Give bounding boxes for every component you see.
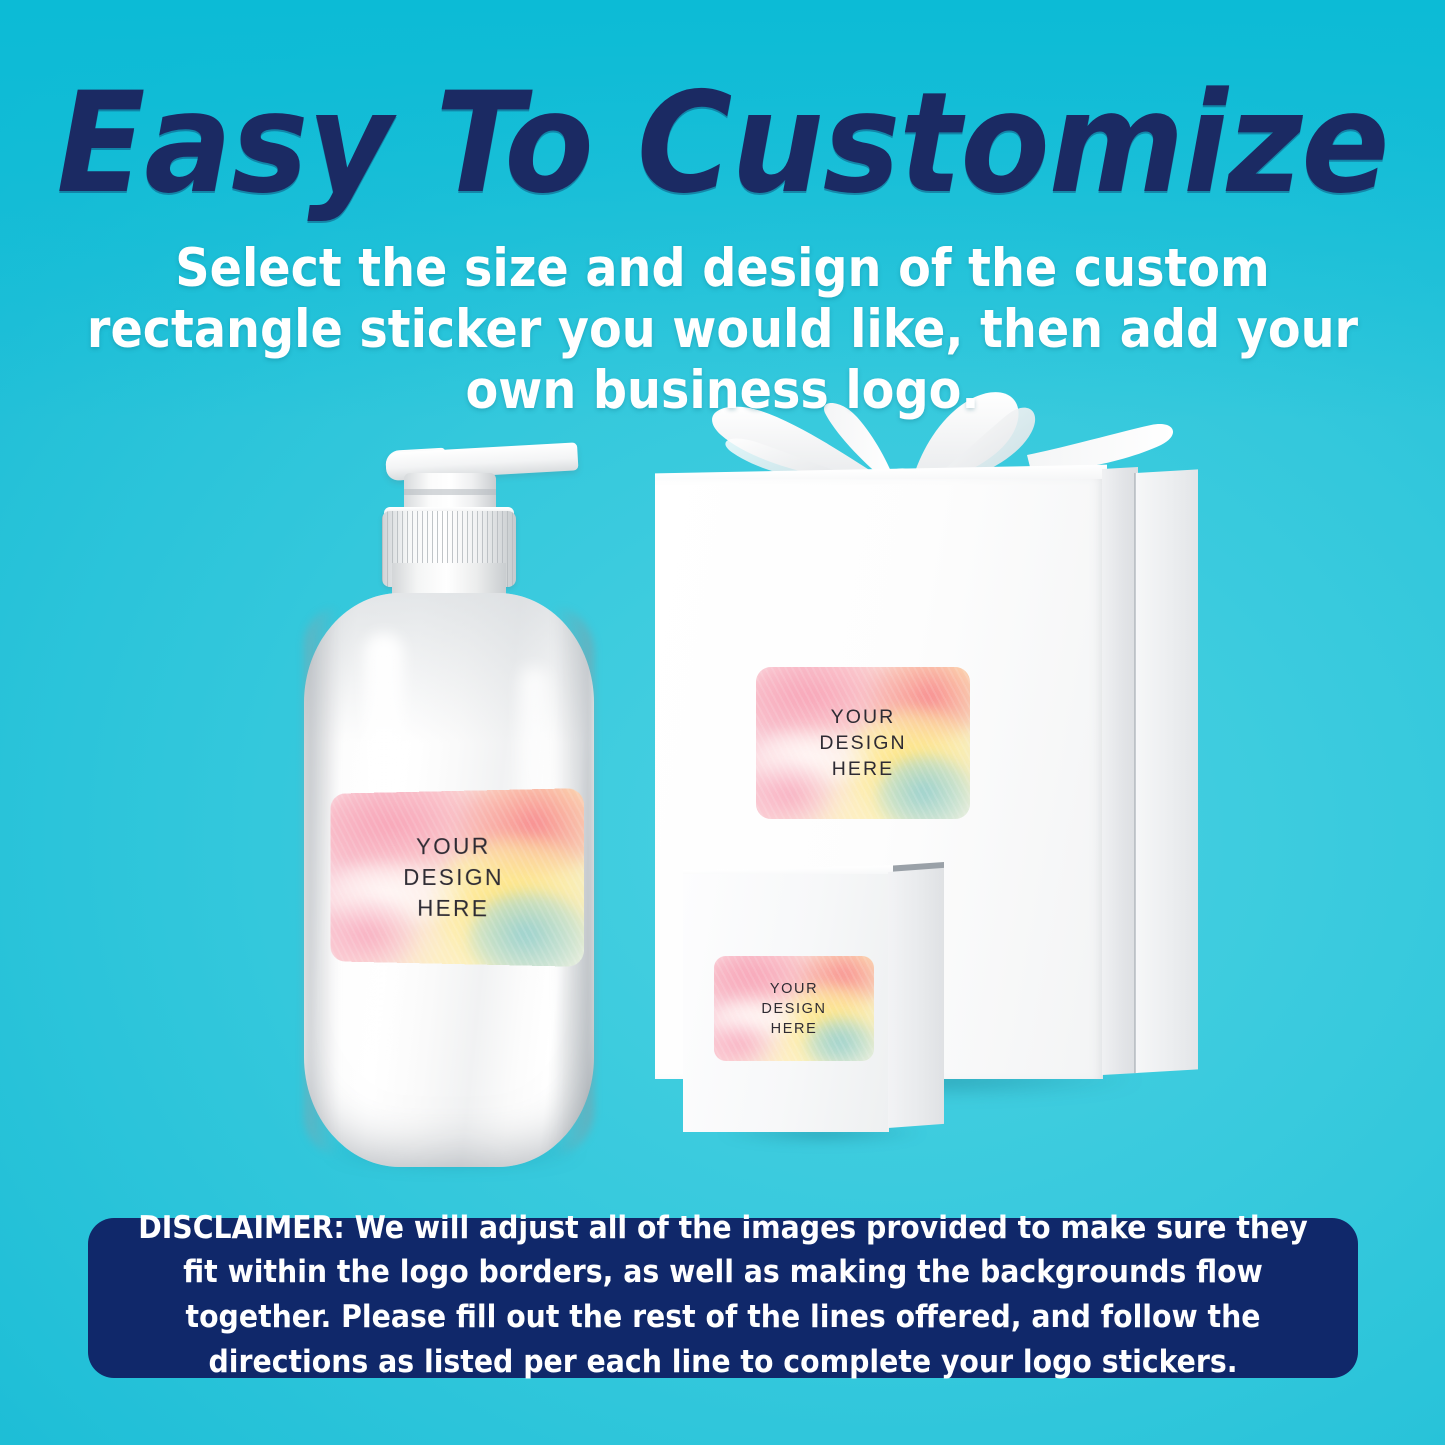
sticker-preview-small-box[interactable]: YOUR DESIGN HERE <box>714 956 874 1061</box>
pump-stem-band <box>404 489 496 495</box>
sticker-line-1: YOUR <box>770 979 818 999</box>
page-subtitle: Select the size and design of the custom… <box>0 239 1445 422</box>
disclaimer-text: DISCLAIMER: We will adjust all of the im… <box>134 1206 1312 1385</box>
sticker-placeholder-text: YOUR DESIGN HERE <box>756 667 970 819</box>
sticker-line-3: HERE <box>832 756 895 782</box>
sticker-line-2: DESIGN <box>819 730 906 756</box>
sticker-placeholder-text: YOUR DESIGN HERE <box>714 956 874 1061</box>
disclaimer-label: DISCLAIMER: <box>138 1210 345 1246</box>
disclaimer-body: We will adjust all of the images provide… <box>183 1210 1308 1380</box>
sticker-preview-gift-box[interactable]: YOUR DESIGN HERE <box>756 667 970 819</box>
sticker-line-2: DESIGN <box>403 862 504 893</box>
small-box-side-face <box>888 868 944 1128</box>
gift-box-side-face <box>1136 469 1198 1073</box>
sticker-line-3: HERE <box>771 1019 818 1039</box>
disclaimer-banner: DISCLAIMER: We will adjust all of the im… <box>88 1218 1358 1378</box>
page-title: Easy To Customize <box>0 0 1445 213</box>
sticker-line-1: YOUR <box>416 831 491 862</box>
bottle-shoulder-shading <box>304 593 594 743</box>
header: Easy To Customize Select the size and de… <box>0 0 1445 422</box>
sticker-preview-bottle[interactable]: YOUR DESIGN HERE <box>330 788 584 967</box>
sticker-line-2: DESIGN <box>761 999 826 1019</box>
sticker-line-3: HERE <box>417 893 489 924</box>
sticker-placeholder-text: YOUR DESIGN HERE <box>330 788 584 967</box>
sticker-line-1: YOUR <box>831 704 896 730</box>
gift-box-lid-edge <box>1102 467 1138 1075</box>
